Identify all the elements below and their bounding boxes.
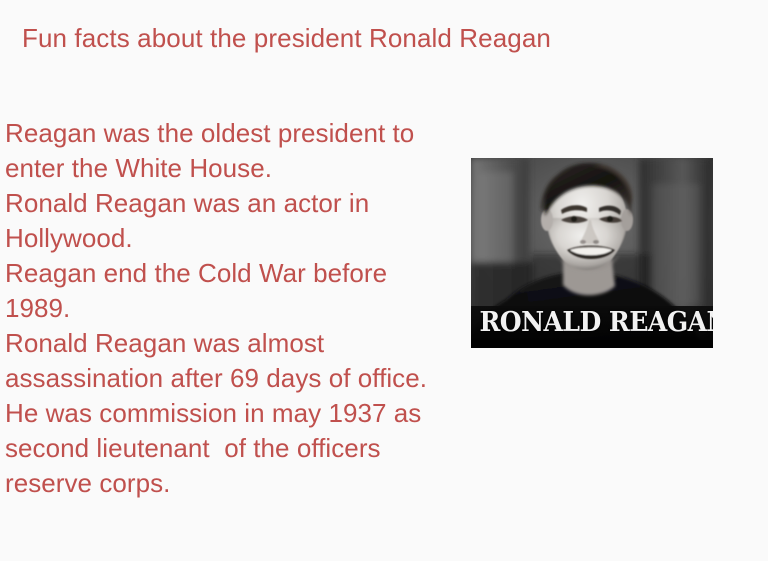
fact-line: 1989.	[5, 291, 475, 326]
fact-line: He was commission in may 1937 as	[5, 396, 475, 431]
presentation-slide: Fun facts about the president Ronald Rea…	[0, 0, 768, 561]
fact-line: Hollywood.	[5, 221, 475, 256]
reagan-portrait-photo: RONALD REAGAN	[471, 158, 713, 348]
fact-line: enter the White House.	[5, 151, 475, 186]
page-title: Fun facts about the president Ronald Rea…	[22, 22, 722, 54]
fact-line: Reagan end the Cold War before	[5, 256, 475, 291]
fact-line: Ronald Reagan was almost	[5, 326, 475, 361]
fact-line: reserve corps.	[5, 466, 475, 501]
fact-line: Ronald Reagan was an actor in	[5, 186, 475, 221]
fact-line: assassination after 69 days of office.	[5, 361, 475, 396]
fact-line: second lieutenant of the officers	[5, 431, 475, 466]
fact-list: Reagan was the oldest president to enter…	[5, 116, 475, 501]
fact-line: Reagan was the oldest president to	[5, 116, 475, 151]
portrait-illustration	[471, 158, 713, 348]
